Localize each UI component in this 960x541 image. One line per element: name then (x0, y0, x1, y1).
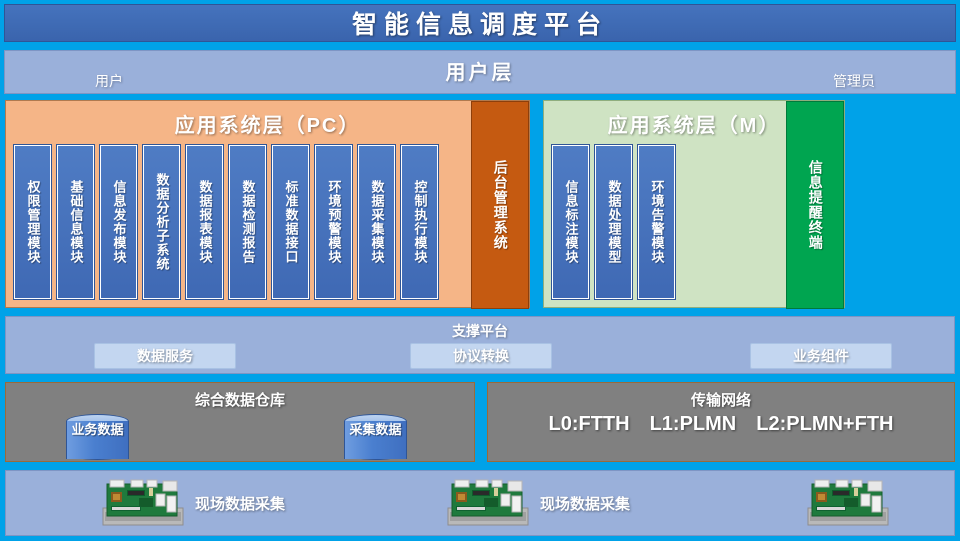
database-cylinder-acquisition[interactable]: 采集数据 (344, 414, 407, 462)
pc-module-list: 权限管理模块基础信息模块信息发布模块数据分析子系统数据报表模块数据检测报告标准数… (14, 145, 469, 299)
platform-title-bar: 智能信息调度平台 (4, 4, 956, 42)
mobile-module-1[interactable]: 数据处理模型 (595, 145, 632, 299)
application-layer-mobile-panel: 应用系统层（M） 信息标注模块数据处理模型环境告警模块 信息提醒终端 (543, 100, 845, 308)
pc-panel-title: 应用系统层（PC） (6, 109, 529, 138)
pc-module-9[interactable]: 控制执行模块 (401, 145, 438, 299)
user-layer-title: 用户层 (5, 56, 955, 85)
field-acquisition-item-1[interactable]: 现场数据采集 (446, 478, 630, 528)
support-platform-title: 支撑平台 (6, 321, 954, 341)
page-title: 智能信息调度平台 (352, 5, 608, 41)
pc-module-0[interactable]: 权限管理模块 (14, 145, 51, 299)
data-warehouse-panel: 综合数据仓库 业务数据 采集数据 (5, 382, 475, 462)
field-acquisition-item-2[interactable] (806, 478, 890, 528)
backoffice-management-system[interactable]: 后台管理系统 (471, 101, 529, 309)
transmission-network-panel: 传输网络 L0:FTTHL1:PLMNL2:PLMN+FTH (487, 382, 955, 462)
circuit-board-icon (806, 478, 890, 528)
pc-module-2[interactable]: 信息发布模块 (100, 145, 137, 299)
mobile-module-2[interactable]: 环境告警模块 (638, 145, 675, 299)
pc-module-1[interactable]: 基础信息模块 (57, 145, 94, 299)
field-acquisition-label-0: 现场数据采集 (195, 493, 285, 514)
network-link-1: L1:PLMN (650, 413, 737, 435)
pc-module-6[interactable]: 标准数据接口 (272, 145, 309, 299)
support-chip-data-service[interactable]: 数据服务 (94, 343, 236, 369)
mobile-module-0[interactable]: 信息标注模块 (552, 145, 589, 299)
transmission-network-title: 传输网络 (488, 389, 954, 410)
support-chip-business-component[interactable]: 业务组件 (750, 343, 892, 369)
circuit-board-icon (446, 478, 530, 528)
circuit-board-icon (101, 478, 185, 528)
architecture-diagram: 智能信息调度平台 用户层 用户 管理员 应用系统层（PC） 权限管理模块基础信息… (0, 0, 960, 541)
business-data-label: 业务数据 (66, 423, 129, 438)
info-reminder-terminal[interactable]: 信息提醒终端 (786, 101, 844, 309)
application-layer-pc-panel: 应用系统层（PC） 权限管理模块基础信息模块信息发布模块数据分析子系统数据报表模… (5, 100, 530, 308)
support-chip-protocol-conversion[interactable]: 协议转换 (410, 343, 552, 369)
pc-module-7[interactable]: 环境预警模块 (315, 145, 352, 299)
pc-module-3[interactable]: 数据分析子系统 (143, 145, 180, 299)
user-layer-band: 用户层 用户 管理员 (4, 50, 956, 94)
mobile-module-list: 信息标注模块数据处理模型环境告警模块 (552, 145, 675, 299)
network-link-list: L0:FTTHL1:PLMNL2:PLMN+FTH (488, 413, 954, 436)
storage-network-band: 综合数据仓库 业务数据 采集数据 传输网络 L0:FTTHL1:PLMNL2:P… (0, 378, 960, 466)
admin-role-label: 管理员 (833, 71, 875, 91)
data-warehouse-title: 综合数据仓库 (6, 389, 474, 410)
acquisition-data-label: 采集数据 (344, 423, 407, 438)
circuit-board-icon (806, 478, 890, 528)
network-link-2: L2:PLMN+FTH (756, 413, 893, 435)
field-acquisition-band: 现场数据采集 现场数据采集 (5, 470, 955, 536)
network-link-0: L0:FTTH (549, 413, 630, 435)
circuit-board-icon (101, 478, 185, 528)
field-acquisition-item-0[interactable]: 现场数据采集 (101, 478, 285, 528)
database-cylinder-business[interactable]: 业务数据 (66, 414, 129, 462)
application-layer-band: 应用系统层（PC） 权限管理模块基础信息模块信息发布模块数据分析子系统数据报表模… (0, 98, 960, 312)
circuit-board-icon (446, 478, 530, 528)
user-role-label: 用户 (95, 71, 123, 91)
pc-module-4[interactable]: 数据报表模块 (186, 145, 223, 299)
pc-module-5[interactable]: 数据检测报告 (229, 145, 266, 299)
field-acquisition-label-1: 现场数据采集 (540, 493, 630, 514)
support-platform-band: 支撑平台 数据服务 协议转换 业务组件 (5, 316, 955, 374)
pc-module-8[interactable]: 数据采集模块 (358, 145, 395, 299)
